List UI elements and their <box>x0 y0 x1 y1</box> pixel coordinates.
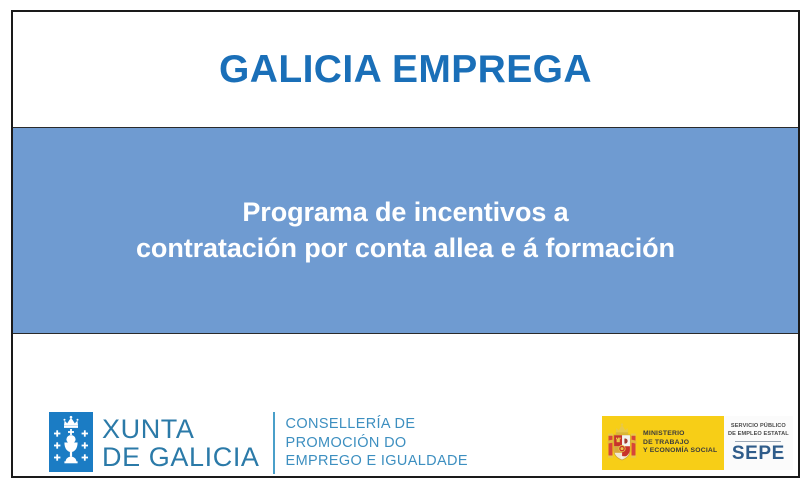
sepe-subtitle-line-2: DE EMPLEO ESTATAL <box>728 431 789 439</box>
xunta-de-galicia-logo: XUNTA DE GALICIA CONSELLERÍA DE PROMOCIÓ… <box>49 412 468 474</box>
ministerio-banner: MINISTERIO DE TRABAJO Y ECONOMÍA SOCIAL <box>602 416 724 470</box>
galicia-coat-of-arms-icon <box>49 412 93 472</box>
xunta-wordmark-line-2: DE GALICIA <box>102 443 260 471</box>
conselleria-line-1: CONSELLERÍA DE <box>286 415 468 434</box>
conselleria-line-3: EMPREGO E IGUALDADE <box>286 452 468 471</box>
conselleria-block: CONSELLERÍA DE PROMOCIÓN DO EMPREGO E IG… <box>286 412 468 474</box>
xunta-wordmark-line-1: XUNTA <box>102 415 260 443</box>
conselleria-line-2: PROMOCIÓN DO <box>286 434 468 453</box>
xunta-wordmark: XUNTA DE GALICIA <box>102 412 260 474</box>
subtitle-line-2: contratación por conta allea e á formaci… <box>136 231 675 267</box>
page-title: GALICIA EMPREGA <box>219 50 592 89</box>
sepe-acronym: SEPE <box>732 444 785 463</box>
ministerio-line-3: Y ECONOMÍA SOCIAL <box>643 447 717 456</box>
subtitle-text: Programa de incentivos a contratación po… <box>116 195 695 266</box>
sepe-ministerio-logo: MINISTERIO DE TRABAJO Y ECONOMÍA SOCIAL … <box>602 416 786 470</box>
subtitle-banner: Programa de incentivos a contratación po… <box>13 127 798 334</box>
sepe-badge: SERVICIO PÚBLICO DE EMPLEO ESTATAL SEPE <box>724 416 793 470</box>
ministerio-wordmark: MINISTERIO DE TRABAJO Y ECONOMÍA SOCIAL <box>643 430 717 456</box>
sepe-divider <box>735 441 781 442</box>
sepe-subtitle-line-1: SERVICIO PÚBLICO <box>731 423 786 431</box>
lockup-divider <box>273 412 275 474</box>
footer-logo-band: XUNTA DE GALICIA CONSELLERÍA DE PROMOCIÓ… <box>13 334 798 476</box>
ministerio-line-1: MINISTERIO <box>643 430 717 439</box>
spain-coat-of-arms-icon <box>607 422 637 464</box>
subtitle-line-1: Programa de incentivos a <box>136 195 675 231</box>
slide-frame: GALICIA EMPREGA Programa de incentivos a… <box>11 10 800 478</box>
title-band: GALICIA EMPREGA <box>13 12 798 127</box>
